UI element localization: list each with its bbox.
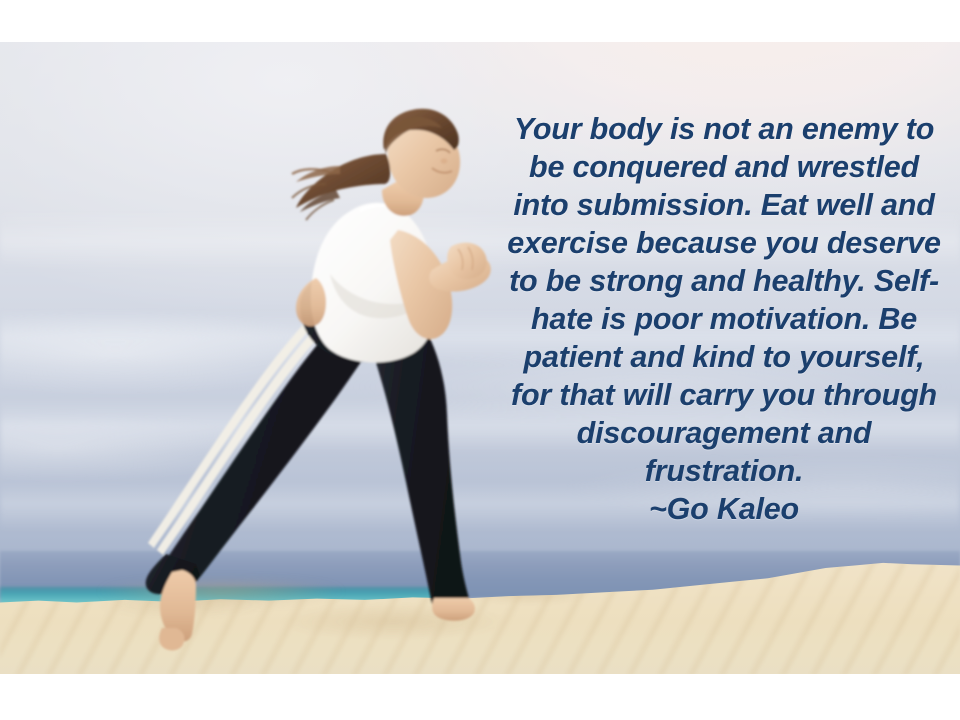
- quote-body: Your body is not an enemy to be conquere…: [507, 112, 941, 488]
- quote-attribution: ~Go Kaleo: [500, 490, 948, 528]
- quote-text-block: Your body is not an enemy to be conquere…: [500, 72, 948, 566]
- quote-slide: Your body is not an enemy to be conquere…: [0, 0, 960, 720]
